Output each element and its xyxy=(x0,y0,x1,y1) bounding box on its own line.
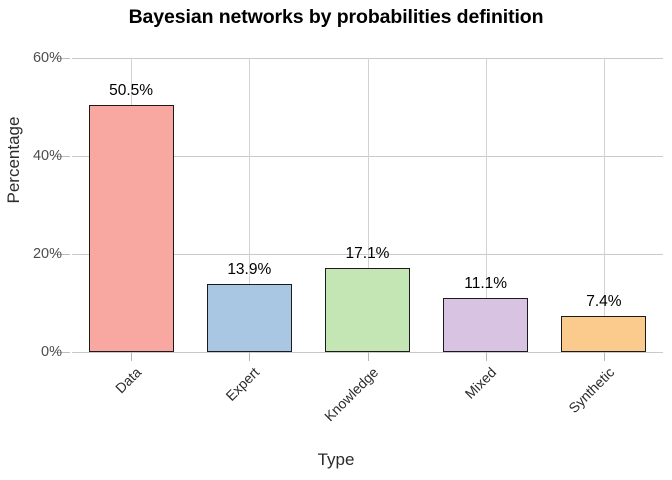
x-tick-label: Synthetic xyxy=(521,364,617,460)
bar-value-label: 50.5% xyxy=(71,82,191,100)
bar-value-label: 17.1% xyxy=(308,245,428,263)
bar-chart: Bayesian networks by probabilities defin… xyxy=(0,0,672,480)
x-tick-mark xyxy=(604,352,605,361)
x-axis-title: Type xyxy=(0,450,672,470)
bar-value-label: 11.1% xyxy=(426,275,546,293)
y-tick-label: 0% xyxy=(4,344,62,360)
x-axis-ticks: DataExpertKnowledgeMixedSynthetic xyxy=(72,352,663,442)
x-tick-label: Knowledge xyxy=(285,364,381,460)
bar xyxy=(325,268,410,352)
chart-title: Bayesian networks by probabilities defin… xyxy=(0,6,672,29)
bar xyxy=(443,298,528,352)
y-axis-ticks: 0%20%40%60% xyxy=(0,58,62,352)
bar xyxy=(561,316,646,352)
x-tick-mark xyxy=(131,352,132,361)
plot-panel: 50.5%13.9%17.1%11.1%7.4% xyxy=(72,58,663,352)
y-tick-label: 20% xyxy=(4,246,62,262)
y-tick-label: 40% xyxy=(4,148,62,164)
x-tick-label: Data xyxy=(48,364,144,460)
x-tick-mark xyxy=(249,352,250,361)
x-tick-label: Expert xyxy=(166,364,262,460)
bar-value-label: 13.9% xyxy=(189,261,309,279)
bar-value-label: 7.4% xyxy=(544,293,664,311)
x-tick-label: Mixed xyxy=(403,364,499,460)
bars-layer: 50.5%13.9%17.1%11.1%7.4% xyxy=(72,58,663,352)
y-tick-label: 60% xyxy=(4,50,62,66)
bar xyxy=(89,105,174,352)
bar xyxy=(207,284,292,352)
x-tick-mark xyxy=(486,352,487,361)
x-tick-mark xyxy=(368,352,369,361)
